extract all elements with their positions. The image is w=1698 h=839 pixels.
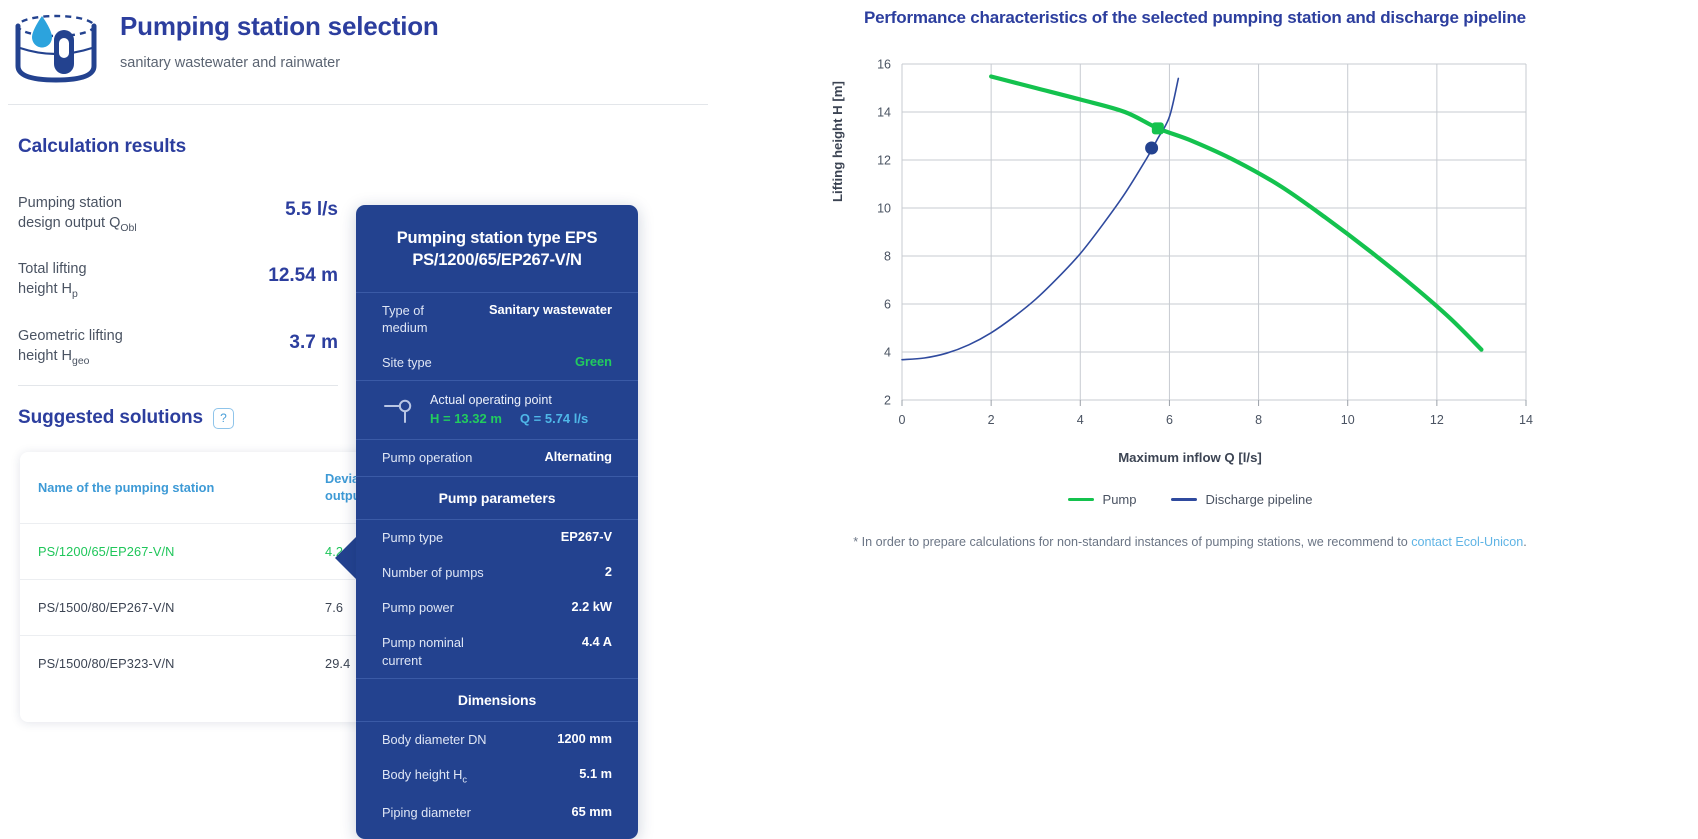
- card-row-number-of-pumps: Number of pumps 2: [356, 555, 638, 590]
- page-title: Pumping station selection: [120, 12, 439, 41]
- footnote-period: .: [1523, 535, 1527, 549]
- svg-text:8: 8: [884, 250, 891, 264]
- svg-text:0: 0: [899, 413, 906, 427]
- cell-station-name: PS/1500/80/EP323-V/N: [20, 635, 307, 691]
- param-value: 2.2 kW: [571, 599, 612, 614]
- svg-text:2: 2: [884, 394, 891, 408]
- calculation-results-heading: Calculation results: [18, 136, 186, 158]
- card-row-piping-diameter: Piping diameter 65 mm: [356, 795, 638, 839]
- result-label-sub: Obl: [120, 223, 136, 234]
- site-type-label: Site type: [382, 354, 432, 371]
- results-divider: [18, 385, 338, 386]
- svg-text:12: 12: [1430, 413, 1444, 427]
- result-value: 12.54 m: [268, 265, 338, 287]
- param-value: EP267-V: [561, 529, 612, 544]
- svg-text:6: 6: [884, 298, 891, 312]
- param-label: Number of pumps: [382, 564, 484, 581]
- svg-text:2: 2: [988, 413, 995, 427]
- column-header-name: Name of the pumping station: [20, 452, 307, 523]
- dimension-label: Piping diameter: [382, 804, 471, 821]
- site-type-value: Green: [575, 354, 612, 369]
- footnote-text: * In order to prepare calculations for n…: [853, 535, 1411, 549]
- result-label-line1: Pumping station: [18, 195, 122, 211]
- result-label-sub: p: [72, 289, 78, 300]
- pumping-station-selection-page: Pumping station selection sanitary waste…: [0, 0, 1698, 791]
- svg-text:14: 14: [877, 106, 891, 120]
- medium-value: Sanitary wastewater: [489, 302, 612, 317]
- brand-header: Pumping station selection sanitary waste…: [10, 8, 439, 88]
- dimension-label-sub: c: [462, 775, 467, 785]
- card-pointer-arrow: [335, 536, 357, 580]
- param-value: 4.4 A: [582, 634, 612, 649]
- suggested-solutions-heading: Suggested solutions: [18, 407, 203, 429]
- svg-text:4: 4: [884, 346, 891, 360]
- medium-label-line1: Type of: [382, 303, 424, 318]
- pump-operation-label: Pump operation: [382, 449, 472, 466]
- water-drop-pump-station-icon: [10, 8, 102, 88]
- param-label: Pump power: [382, 599, 454, 616]
- svg-text:4: 4: [1077, 413, 1084, 427]
- card-row-pump-type: Pump type EP267-V: [356, 520, 638, 555]
- legend-item-pump: Pump: [1068, 492, 1137, 507]
- chart-footnote: * In order to prepare calculations for n…: [840, 534, 1540, 551]
- chart-legend: Pump Discharge pipeline: [840, 492, 1540, 507]
- x-axis-label: Maximum inflow Q [l/s]: [840, 450, 1540, 465]
- svg-text:12: 12: [877, 154, 891, 168]
- svg-text:16: 16: [877, 58, 891, 72]
- chart-area: Lifting height H [m] 2468101214160246810…: [840, 52, 1640, 452]
- card-row-body-height: Body height Hc 5.1 m: [356, 757, 638, 795]
- card-title: Pumping station type EPS PS/1200/65/EP26…: [356, 205, 638, 292]
- cell-station-name: PS/1200/65/EP267-V/N: [20, 523, 307, 579]
- dimension-value: 1200 mm: [557, 731, 612, 746]
- svg-text:6: 6: [1166, 413, 1173, 427]
- header-divider: [8, 104, 708, 105]
- chart-title: Performance characteristics of the selec…: [864, 8, 1664, 28]
- operating-point-head: H = 13.32 m: [430, 411, 502, 426]
- left-panel: Pumping station selection sanitary waste…: [0, 0, 780, 791]
- svg-text:10: 10: [877, 202, 891, 216]
- cell-station-name: PS/1500/80/EP267-V/N: [20, 579, 307, 635]
- card-row-pump-power: Pump power 2.2 kW: [356, 590, 638, 625]
- dimension-value: 65 mm: [571, 804, 612, 819]
- result-label-sub: geo: [72, 356, 89, 367]
- operating-point-icon: [382, 395, 416, 425]
- card-row-pump-operation: Pump operation Alternating: [356, 440, 638, 475]
- suggested-solutions-header: Suggested solutions ?: [18, 407, 234, 429]
- pump-parameters-band: Pump parameters: [356, 477, 638, 519]
- result-label-line1: Total lifting: [18, 261, 87, 277]
- y-axis-label: Lifting height H [m]: [830, 81, 845, 202]
- param-label: Pump type: [382, 529, 443, 546]
- svg-text:10: 10: [1341, 413, 1355, 427]
- result-label-line2: height H: [18, 281, 72, 297]
- result-label-line2: design output Q: [18, 215, 120, 231]
- pumping-station-detail-card: Pumping station type EPS PS/1200/65/EP26…: [356, 205, 638, 839]
- result-value: 5.5 l/s: [285, 199, 338, 221]
- dimension-label: Body height H: [382, 767, 462, 782]
- result-label-line2: height H: [18, 348, 72, 364]
- dimension-label: Body diameter DN: [382, 731, 487, 748]
- param-label: Pump nominal current: [382, 634, 502, 669]
- help-icon[interactable]: ?: [213, 408, 234, 429]
- card-row-site-type: Site type Green: [356, 345, 638, 380]
- legend-item-discharge-pipeline: Discharge pipeline: [1171, 492, 1313, 507]
- dimensions-band: Dimensions: [356, 679, 638, 721]
- legend-label-pump: Pump: [1103, 492, 1137, 507]
- chart-panel: Performance characteristics of the selec…: [780, 0, 1698, 791]
- contact-link[interactable]: contact Ecol-Unicon: [1411, 535, 1523, 549]
- legend-swatch-pump: [1068, 498, 1094, 501]
- result-row-total-lifting-height: Total lifting height Hp 12.54 m: [18, 259, 338, 302]
- medium-label-line2: medium: [382, 320, 428, 335]
- svg-text:8: 8: [1255, 413, 1262, 427]
- pump-operation-value: Alternating: [544, 449, 612, 464]
- page-subtitle: sanitary wastewater and rainwater: [120, 55, 439, 71]
- card-row-pump-nominal-current: Pump nominal current 4.4 A: [356, 625, 638, 678]
- operating-point-title: Actual operating point: [430, 393, 588, 407]
- result-label-line1: Geometric lifting: [18, 328, 123, 344]
- legend-label-pipeline: Discharge pipeline: [1206, 492, 1313, 507]
- result-row-design-output: Pumping station design output QObl 5.5 l…: [18, 193, 338, 236]
- param-value: 2: [605, 564, 612, 579]
- card-row-body-diameter: Body diameter DN 1200 mm: [356, 722, 638, 757]
- svg-text:14: 14: [1519, 413, 1533, 427]
- performance-chart-svg: 24681012141602468101214: [840, 52, 1540, 442]
- card-operating-point: Actual operating point H = 13.32 m Q = 5…: [356, 381, 638, 439]
- result-value: 3.7 m: [289, 332, 338, 354]
- dimension-value: 5.1 m: [579, 766, 612, 781]
- result-row-geometric-lifting-height: Geometric lifting height Hgeo 3.7 m: [18, 326, 338, 369]
- card-row-medium: Type of medium Sanitary wastewater: [356, 293, 638, 346]
- operating-point-flow: Q = 5.74 l/s: [520, 411, 588, 426]
- legend-swatch-pipeline: [1171, 498, 1197, 501]
